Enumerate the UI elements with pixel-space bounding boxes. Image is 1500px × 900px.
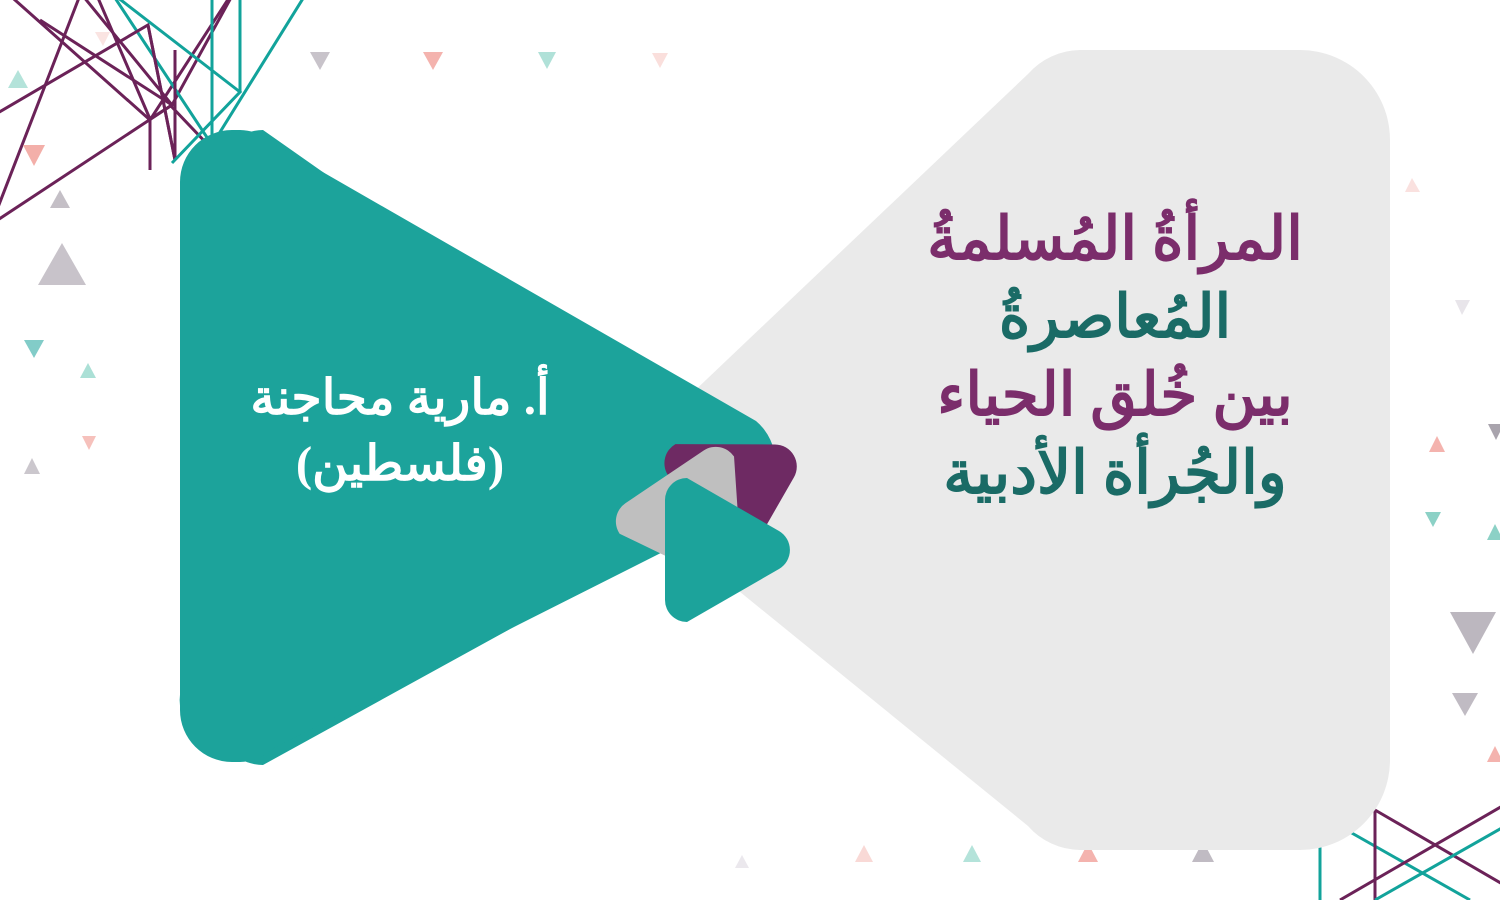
speaker-country: (فلسطين) (185, 431, 615, 497)
speaker-name: أ. مارية محاجنة (185, 365, 615, 431)
title-line-3: بين خُلق الحياء (880, 356, 1350, 434)
speaker-info: أ. مارية محاجنة (فلسطين) (185, 365, 615, 496)
lecture-title: المرأةُ المُسلمةُ المُعاصرةُ بين خُلق ال… (880, 200, 1350, 512)
title-line-2: المُعاصرةُ (880, 278, 1350, 356)
title-line-1: المرأةُ المُسلمةُ (880, 200, 1350, 278)
title-slide: المرأةُ المُسلمةُ المُعاصرةُ بين خُلق ال… (0, 0, 1500, 900)
title-line-4: والجُرأة الأدبية (880, 434, 1350, 512)
